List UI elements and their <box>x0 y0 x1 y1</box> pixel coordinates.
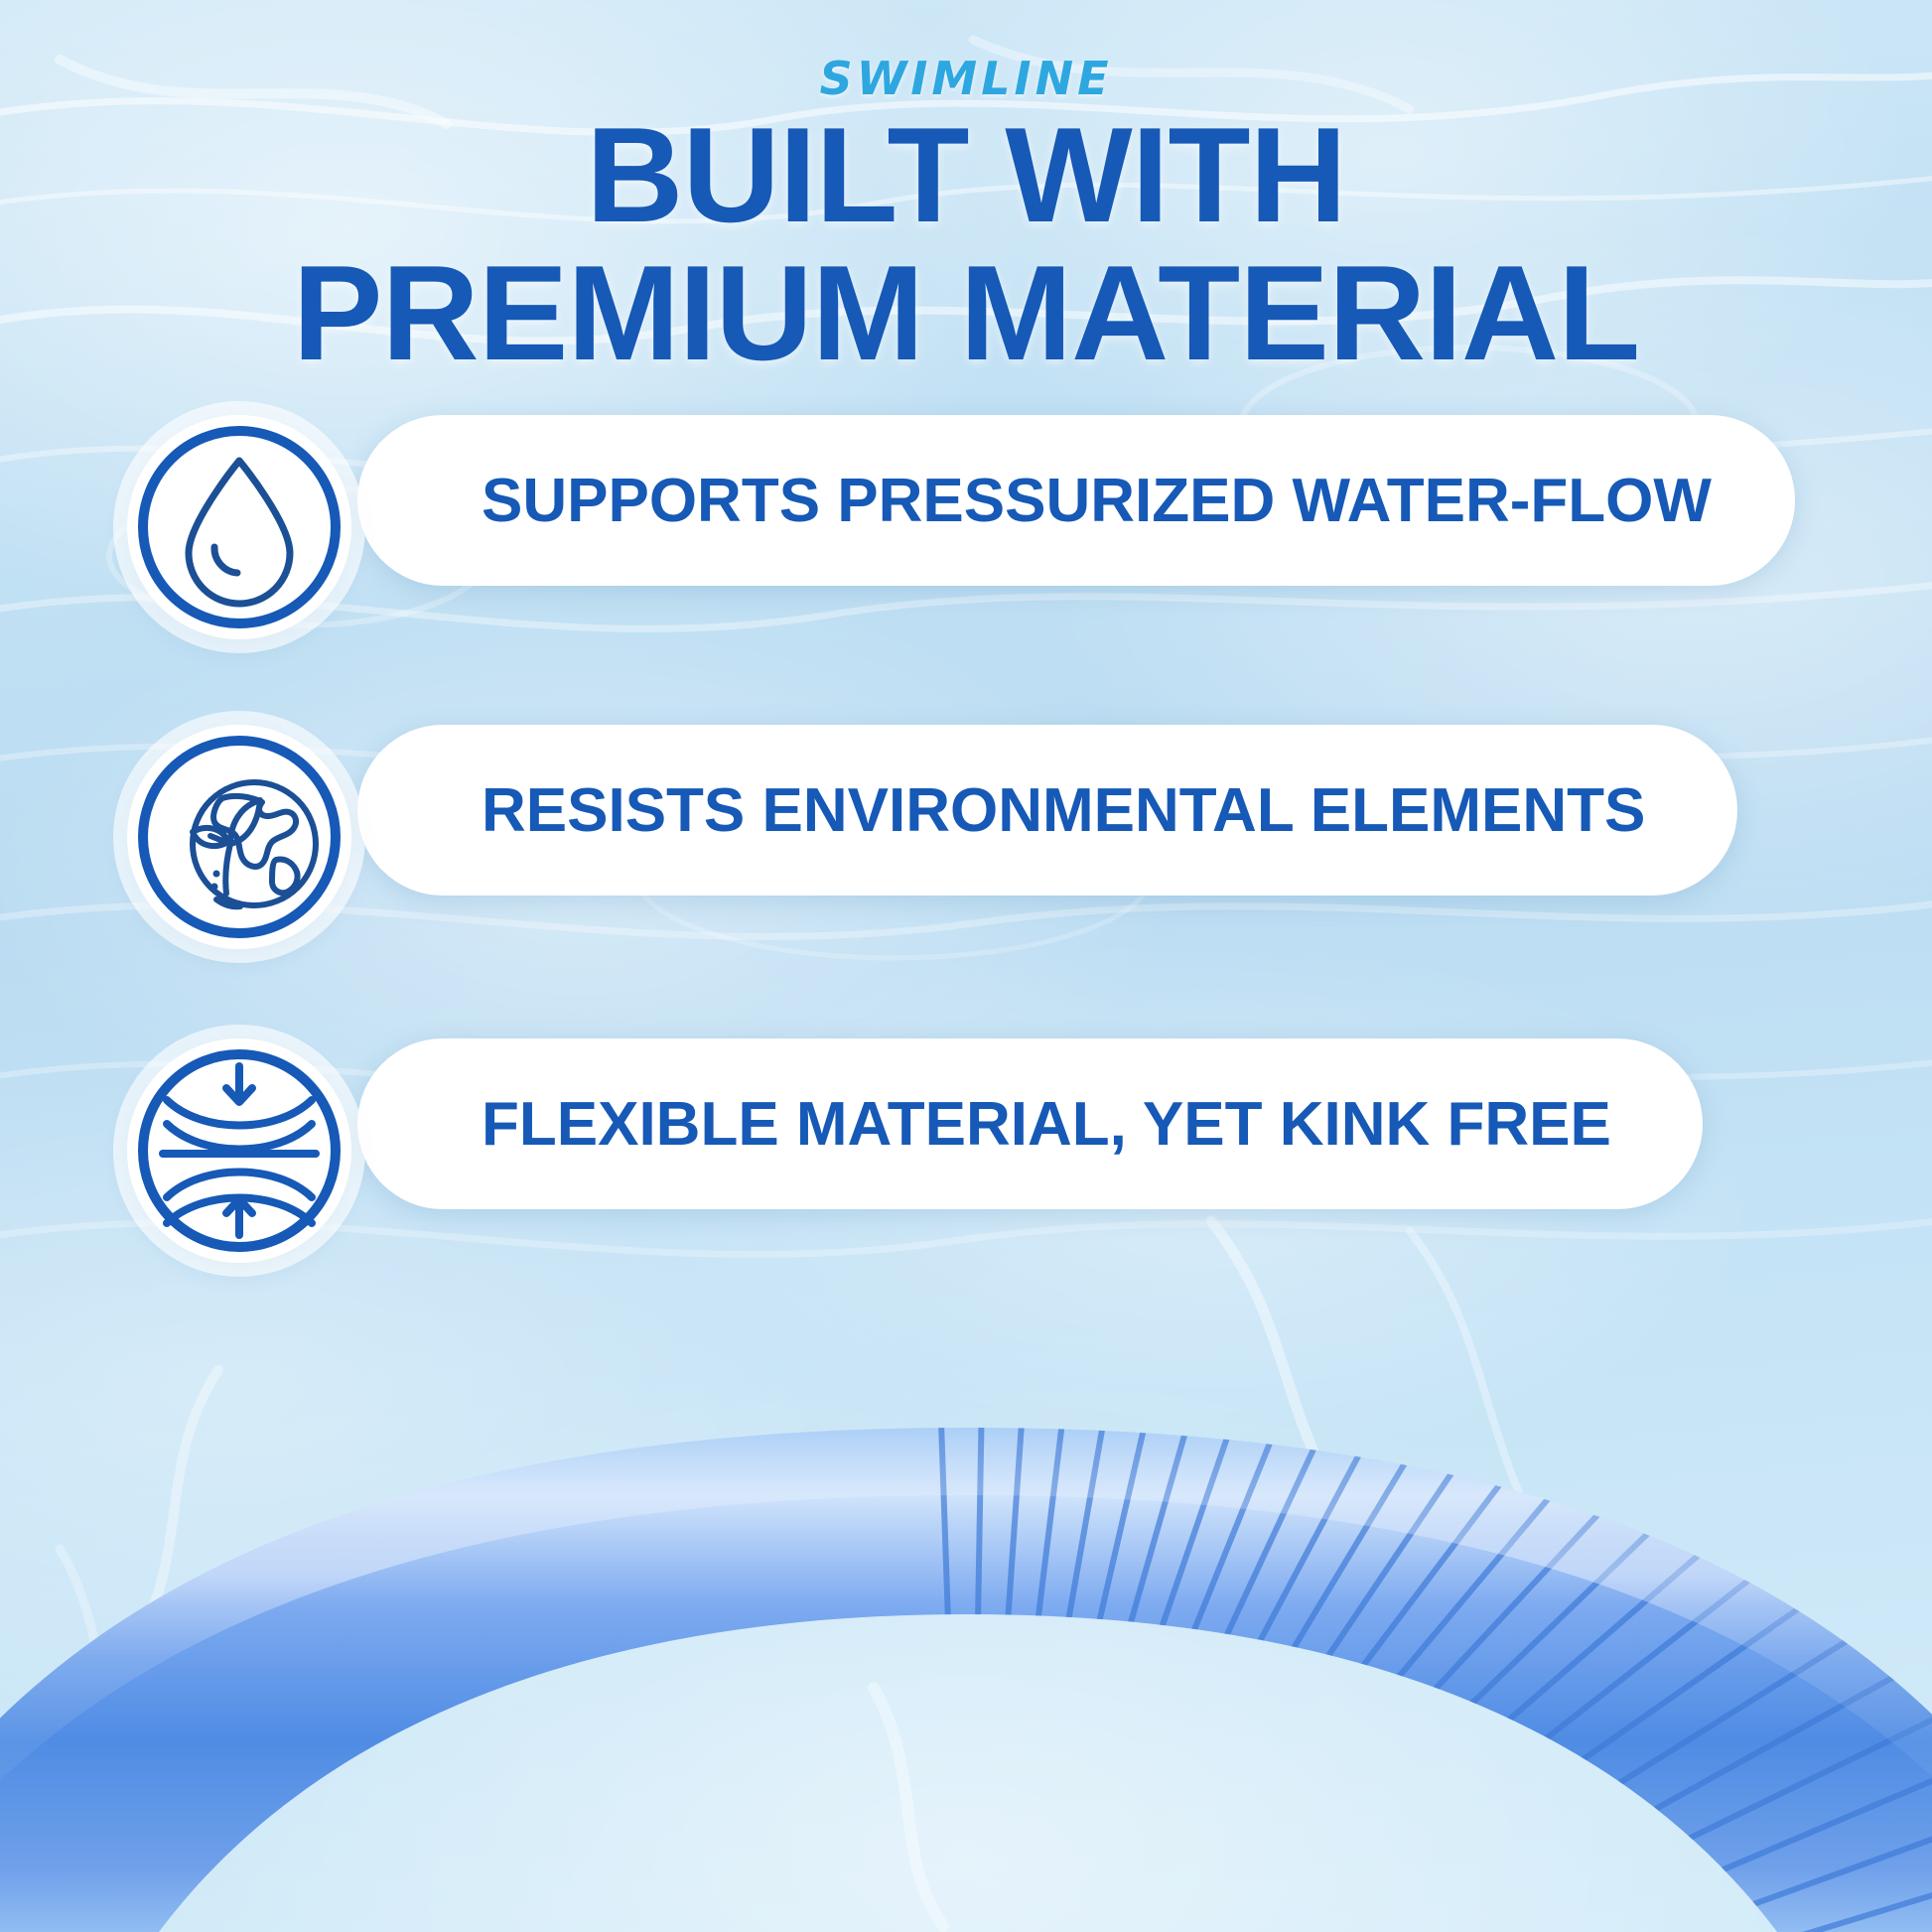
globe-leaf-icon <box>127 725 351 949</box>
corrugated-pool-hose <box>0 1316 1932 1932</box>
flexible-material-icon <box>127 1038 351 1263</box>
feature-list: SUPPORTS PRESSURIZED WATER-FLOW RESISTS … <box>0 415 1932 1348</box>
water-drop-icon <box>127 415 351 639</box>
brand-logo: SWIMLINE <box>0 52 1932 105</box>
feature-label: FLEXIBLE MATERIAL, YET KINK FREE <box>357 1089 1611 1160</box>
headline-line-1: BUILT WITH <box>0 111 1932 239</box>
headline-line-2: PREMIUM MATERIAL <box>0 249 1932 377</box>
feature-row-flexible: FLEXIBLE MATERIAL, YET KINK FREE <box>0 1038 1932 1263</box>
promo-banner: SWIMLINE BUILT WITH PREMIUM MATERIAL SUP… <box>0 0 1932 1932</box>
feature-pill: SUPPORTS PRESSURIZED WATER-FLOW <box>357 415 1795 586</box>
feature-label: SUPPORTS PRESSURIZED WATER-FLOW <box>357 466 1712 536</box>
feature-row-water-flow: SUPPORTS PRESSURIZED WATER-FLOW <box>0 415 1932 639</box>
feature-label: RESISTS ENVIRONMENTAL ELEMENTS <box>357 775 1645 846</box>
feature-row-environmental: RESISTS ENVIRONMENTAL ELEMENTS <box>0 725 1932 949</box>
feature-pill: FLEXIBLE MATERIAL, YET KINK FREE <box>357 1038 1703 1209</box>
page-title: BUILT WITH PREMIUM MATERIAL <box>0 111 1932 377</box>
feature-pill: RESISTS ENVIRONMENTAL ELEMENTS <box>357 725 1737 896</box>
